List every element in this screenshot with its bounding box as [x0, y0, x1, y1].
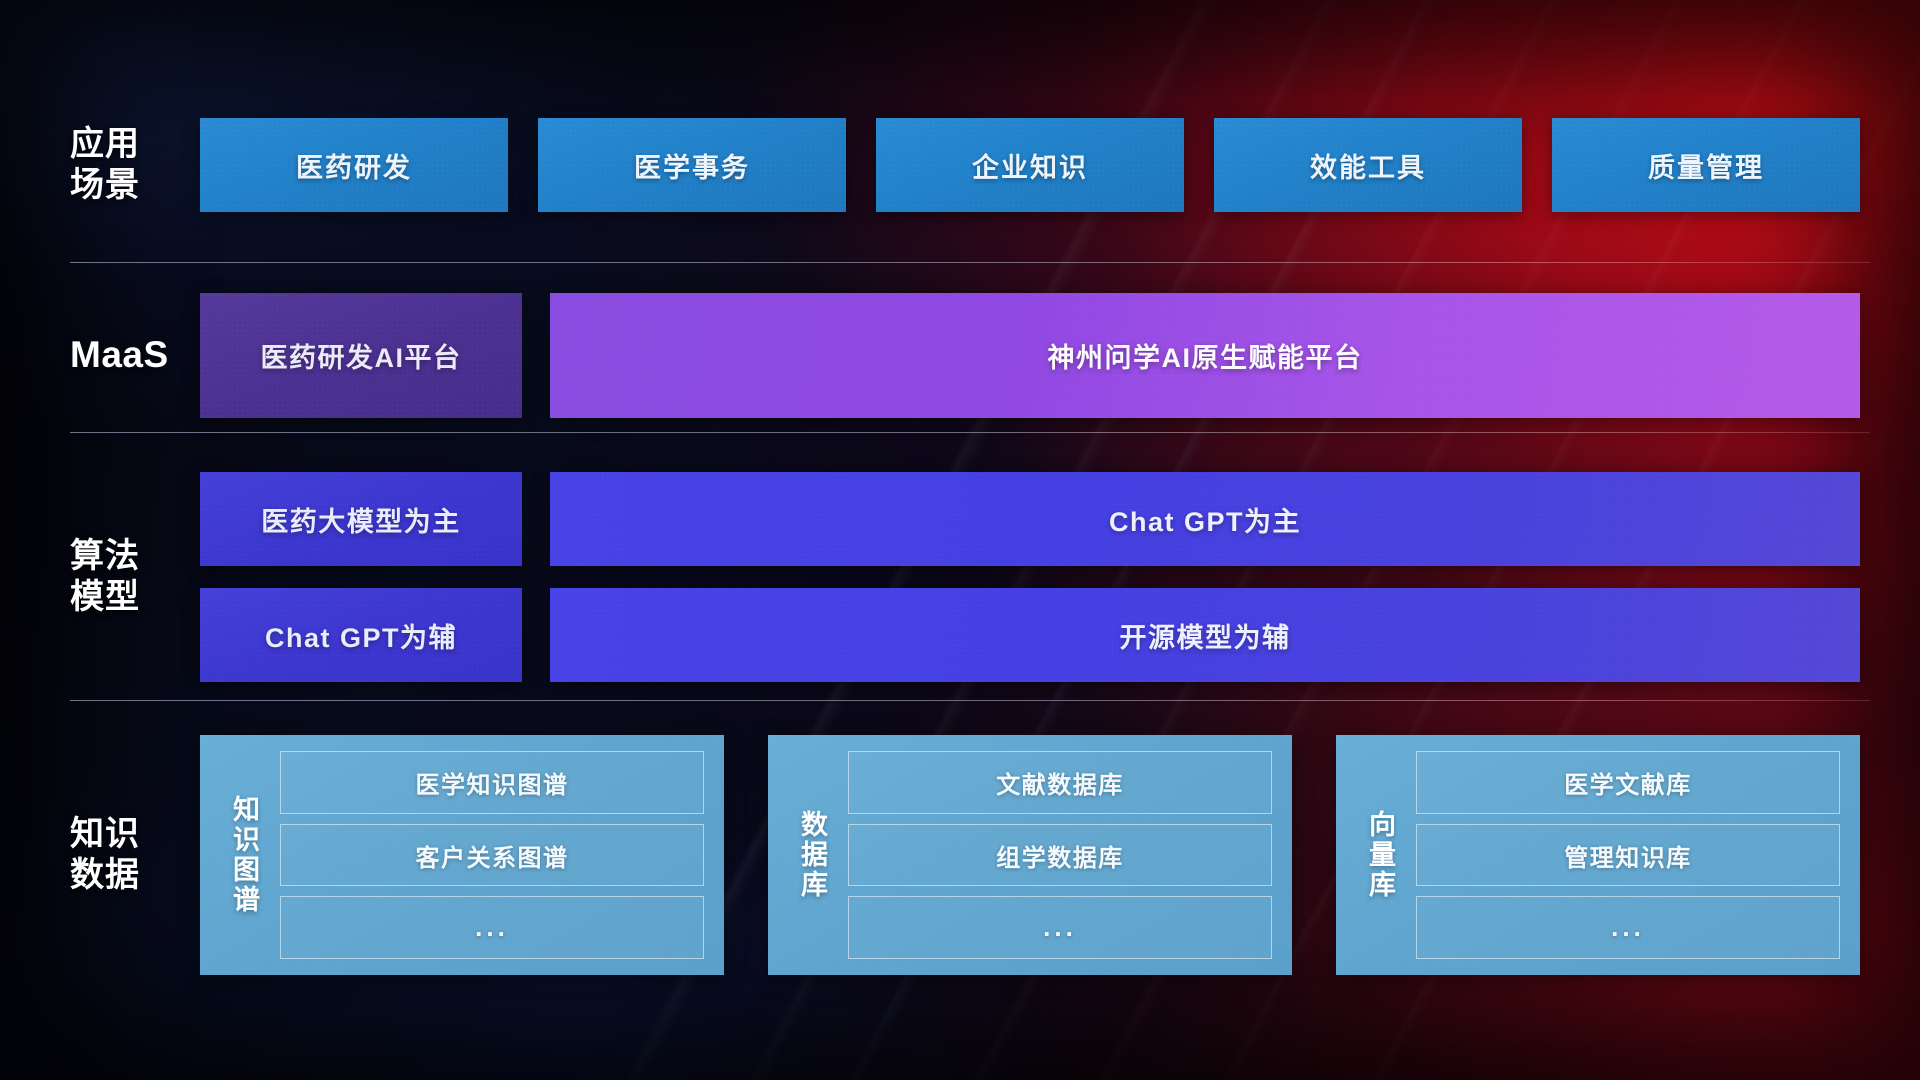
- knowledge-panel-strip: 知识图谱 医学知识图谱 客户关系图谱 ... 数据库 文献数据库 组学数据库 .…: [200, 735, 1860, 975]
- knowledge-panel-database[interactable]: 数据库 文献数据库 组学数据库 ...: [768, 735, 1292, 975]
- maas-body: 医药研发AI平台 神州问学AI原生赋能平台: [200, 293, 1860, 418]
- app-card-label: 医药研发: [296, 146, 412, 185]
- algorithm-card-drug-llm-primary[interactable]: 医药大模型为主: [200, 472, 522, 566]
- knowledge-item[interactable]: 管理知识库: [1416, 824, 1840, 887]
- knowledge-item[interactable]: 医学文献库: [1416, 751, 1840, 814]
- app-card-enterprise-knowledge[interactable]: 企业知识: [876, 118, 1184, 212]
- row-application-scenarios: 应用 场景 医药研发 医学事务 企业知识 效能工具: [70, 100, 1860, 230]
- algorithm-card-chatgpt-primary[interactable]: Chat GPT为主: [550, 472, 1860, 566]
- knowledge-item[interactable]: 医学知识图谱: [280, 751, 704, 814]
- divider-applications-maas: [70, 262, 1870, 263]
- row-label-application-scenarios: 应用 场景: [70, 124, 200, 207]
- algorithm-card-label: Chat GPT为辅: [265, 616, 457, 655]
- row-maas: MaaS 医药研发AI平台 神州问学AI原生赋能平台: [70, 290, 1860, 420]
- knowledge-item-list: 文献数据库 组学数据库 ...: [840, 747, 1278, 963]
- knowledge-item[interactable]: 组学数据库: [848, 824, 1272, 887]
- application-card-strip: 医药研发 医学事务 企业知识 效能工具 质量管理: [200, 118, 1860, 212]
- app-card-label: 效能工具: [1310, 146, 1426, 185]
- app-card-efficiency-tools[interactable]: 效能工具: [1214, 118, 1522, 212]
- architecture-diagram: 应用 场景 医药研发 医学事务 企业知识 效能工具: [0, 0, 1920, 1080]
- row-label-knowledge-data: 知识 数据: [70, 814, 200, 897]
- knowledge-item-more[interactable]: ...: [280, 896, 704, 959]
- maas-card-shenzhou-wenxue-platform[interactable]: 神州问学AI原生赋能平台: [550, 293, 1860, 418]
- maas-card-label: 医药研发AI平台: [261, 336, 462, 375]
- knowledge-item-list: 医学知识图谱 客户关系图谱 ...: [272, 747, 710, 963]
- algorithm-row-primary: 医药大模型为主 Chat GPT为主: [200, 472, 1860, 566]
- app-card-label: 质量管理: [1648, 146, 1764, 185]
- maas-card-drug-rd-ai-platform[interactable]: 医药研发AI平台: [200, 293, 522, 418]
- row-knowledge-data: 知识 数据 知识图谱 医学知识图谱 客户关系图谱 ... 数据库: [70, 730, 1860, 980]
- application-scenarios-body: 医药研发 医学事务 企业知识 效能工具 质量管理: [200, 118, 1860, 212]
- row-label-maas: MaaS: [70, 332, 200, 377]
- slide-canvas: 应用 场景 医药研发 医学事务 企业知识 效能工具: [0, 0, 1920, 1080]
- knowledge-panel-vector-store[interactable]: 向量库 医学文献库 管理知识库 ...: [1336, 735, 1860, 975]
- row-algorithm-models: 算法 模型 医药大模型为主 Chat GPT为主 Chat GPT为辅: [70, 462, 1860, 692]
- algorithm-row-secondary: Chat GPT为辅 开源模型为辅: [200, 588, 1860, 682]
- row-label-algorithm-models: 算法 模型: [70, 536, 200, 619]
- knowledge-panel-label: 向量库: [1350, 747, 1408, 963]
- app-card-label: 医学事务: [634, 146, 750, 185]
- knowledge-panel-label: 知识图谱: [214, 747, 272, 963]
- maas-card-label: 神州问学AI原生赋能平台: [1048, 336, 1363, 375]
- algorithm-models-body: 医药大模型为主 Chat GPT为主 Chat GPT为辅 开源模型为辅: [200, 472, 1860, 682]
- knowledge-item[interactable]: 文献数据库: [848, 751, 1272, 814]
- app-card-quality-management[interactable]: 质量管理: [1552, 118, 1860, 212]
- algorithm-card-stack: 医药大模型为主 Chat GPT为主 Chat GPT为辅 开源模型为辅: [200, 472, 1860, 682]
- app-card-medical-affairs[interactable]: 医学事务: [538, 118, 846, 212]
- knowledge-item[interactable]: 客户关系图谱: [280, 824, 704, 887]
- algorithm-card-label: 开源模型为辅: [1120, 616, 1291, 655]
- knowledge-panel-label: 数据库: [782, 747, 840, 963]
- algorithm-card-chatgpt-secondary[interactable]: Chat GPT为辅: [200, 588, 522, 682]
- knowledge-item-more[interactable]: ...: [1416, 896, 1840, 959]
- divider-algorithm-knowledge: [70, 700, 1870, 701]
- divider-maas-algorithm: [70, 432, 1870, 433]
- knowledge-data-body: 知识图谱 医学知识图谱 客户关系图谱 ... 数据库 文献数据库 组学数据库 .…: [200, 735, 1860, 975]
- app-card-drug-rd[interactable]: 医药研发: [200, 118, 508, 212]
- algorithm-card-label: Chat GPT为主: [1109, 500, 1301, 539]
- algorithm-card-opensource-secondary[interactable]: 开源模型为辅: [550, 588, 1860, 682]
- knowledge-panel-knowledge-graph[interactable]: 知识图谱 医学知识图谱 客户关系图谱 ...: [200, 735, 724, 975]
- knowledge-item-list: 医学文献库 管理知识库 ...: [1408, 747, 1846, 963]
- app-card-label: 企业知识: [972, 146, 1088, 185]
- algorithm-card-label: 医药大模型为主: [261, 500, 461, 539]
- maas-card-strip: 医药研发AI平台 神州问学AI原生赋能平台: [200, 293, 1860, 418]
- knowledge-item-more[interactable]: ...: [848, 896, 1272, 959]
